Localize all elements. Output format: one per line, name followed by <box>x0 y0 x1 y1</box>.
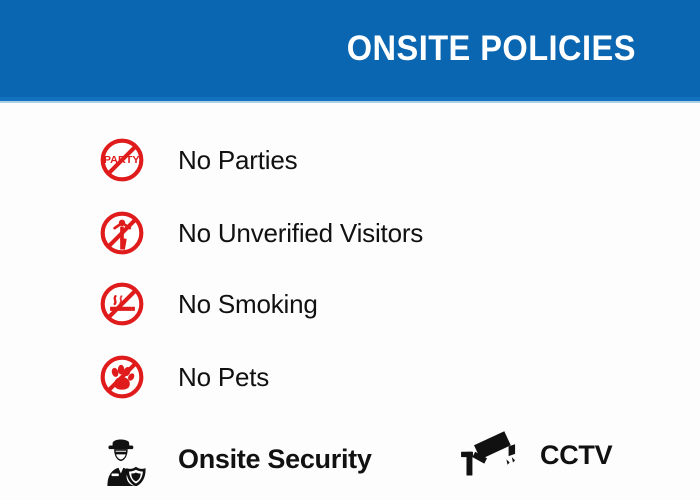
header-underline-light <box>0 101 700 103</box>
no-smoking-icon <box>96 278 148 330</box>
list-item: No Pets <box>96 351 269 403</box>
onsite-policies-poster: ONSITE POLICIES PARTY No Parties <box>0 0 700 500</box>
list-item-label: No Unverified Visitors <box>178 218 423 249</box>
security-guard-icon <box>96 430 152 488</box>
cctv-camera-icon <box>456 426 518 484</box>
page-title: ONSITE POLICIES <box>347 31 636 66</box>
feature-item-onsite-security: Onsite Security <box>96 430 372 488</box>
list-item-label: No Smoking <box>178 289 318 320</box>
feature-label-onsite-security: Onsite Security <box>178 444 372 475</box>
feature-label-cctv: CCTV <box>540 440 612 471</box>
no-parties-icon: PARTY <box>96 134 148 186</box>
header-banner: ONSITE POLICIES <box>0 0 700 97</box>
no-pets-icon <box>96 351 148 403</box>
list-item: PARTY No Parties <box>96 134 297 186</box>
feature-row: Onsite Security <box>0 418 700 500</box>
list-item-label: No Parties <box>178 145 297 176</box>
list-item-label: No Pets <box>178 362 269 393</box>
list-item: No Unverified Visitors <box>96 207 423 259</box>
no-unverified-visitors-icon <box>96 207 148 259</box>
feature-item-cctv: CCTV <box>456 426 612 484</box>
list-item: No Smoking <box>96 278 318 330</box>
